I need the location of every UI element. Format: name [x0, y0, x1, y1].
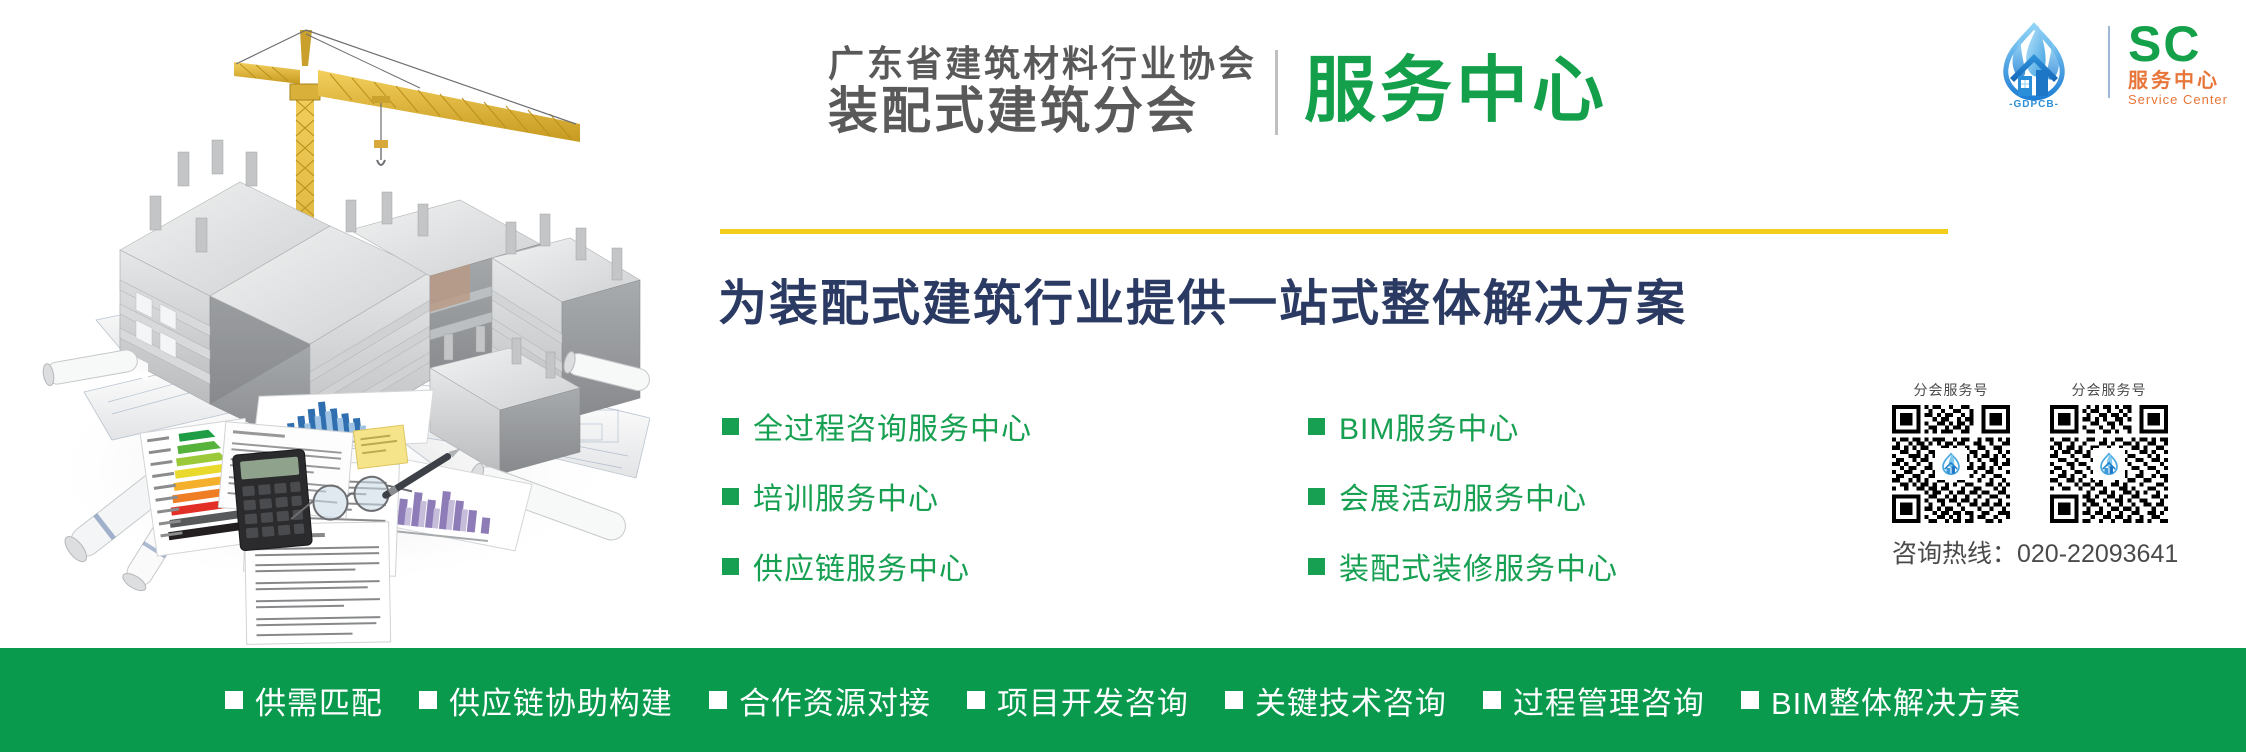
- footer-item-label: 过程管理咨询: [1513, 678, 1705, 723]
- logo-name-en: Service Center: [2128, 93, 2228, 106]
- square-bullet-icon: [722, 418, 739, 435]
- service-item-label: 全过程咨询服务中心: [753, 404, 1032, 448]
- service-item[interactable]: 装配式装修服务中心: [1308, 544, 1618, 588]
- footer-item[interactable]: BIM整体解决方案: [1741, 678, 2021, 723]
- flame-house-icon: -GDPCB-: [1978, 14, 2090, 110]
- service-item-label: 装配式装修服务中心: [1339, 544, 1618, 588]
- service-item[interactable]: 全过程咨询服务中心: [722, 404, 1222, 448]
- square-bullet-icon: [722, 558, 739, 575]
- logo-name-cn: 服务中心: [2128, 71, 2220, 91]
- footer-item[interactable]: 项目开发咨询: [967, 678, 1189, 723]
- logo-divider: [2108, 26, 2110, 98]
- footer-item-label: BIM整体解决方案: [1771, 678, 2021, 723]
- qr-code-image[interactable]: [2050, 405, 2168, 523]
- service-column-left: 全过程咨询服务中心 培训服务中心 供应链服务中心: [722, 404, 1222, 588]
- main-tagline: 为装配式建筑行业提供一站式整体解决方案: [718, 264, 1687, 335]
- service-item[interactable]: 培训服务中心: [722, 474, 1222, 518]
- qr-contact-block: 分会服务号: [1892, 380, 2210, 570]
- footer-item[interactable]: 供应链协助构建: [419, 678, 673, 723]
- brand-logo[interactable]: -GDPCB- SC 服务中心 Service Center: [1978, 14, 2228, 110]
- square-bullet-icon: [1308, 488, 1325, 505]
- banner-root: 广东省建筑材料行业协会 装配式建筑分会 服务中心 为装配式建筑行业提供一站式整体…: [0, 0, 2246, 752]
- logo-mark-caption: -GDPCB-: [2009, 99, 2059, 110]
- square-bullet-icon: [1308, 558, 1325, 575]
- square-bullet-icon: [419, 691, 437, 709]
- service-item-label: 供应链服务中心: [753, 544, 970, 588]
- footer-item-label: 关键技术咨询: [1255, 678, 1447, 723]
- square-bullet-icon: [722, 488, 739, 505]
- yellow-divider-rule: [720, 229, 1948, 234]
- square-bullet-icon: [709, 691, 727, 709]
- service-column-right: BIM服务中心 会展活动服务中心 装配式装修服务中心: [1308, 404, 1618, 588]
- square-bullet-icon: [225, 691, 243, 709]
- service-item-label: BIM服务中心: [1339, 404, 1519, 448]
- association-name-line1: 广东省建筑材料行业协会: [828, 44, 1257, 84]
- footer-item-label: 供需匹配: [255, 678, 383, 723]
- qr-label: 分会服务号: [2050, 380, 2168, 400]
- qr-center-flame-house-icon: [2093, 448, 2125, 480]
- logo-abbr: SC: [2128, 19, 2201, 69]
- service-center-heading: 服务中心: [1278, 44, 1608, 139]
- footer-item[interactable]: 关键技术咨询: [1225, 678, 1447, 723]
- service-item[interactable]: 会展活动服务中心: [1308, 474, 1618, 518]
- hotline-text: 咨询热线：020-22093641: [1892, 534, 2210, 570]
- square-bullet-icon: [1308, 418, 1325, 435]
- footer-item[interactable]: 供需匹配: [225, 678, 383, 723]
- qr-code-row: 分会服务号: [1892, 380, 2210, 523]
- footer-capability-bar: 供需匹配 供应链协助构建 合作资源对接 项目开发咨询 关键技术咨询 过程管理咨询…: [0, 648, 2246, 752]
- footer-item-label: 项目开发咨询: [997, 678, 1189, 723]
- service-item-label: 培训服务中心: [753, 474, 939, 518]
- footer-item[interactable]: 合作资源对接: [709, 678, 931, 723]
- service-item-label: 会展活动服务中心: [1339, 474, 1587, 518]
- header-title-block: 广东省建筑材料行业协会 装配式建筑分会 服务中心: [828, 44, 1608, 139]
- qr-code-cell[interactable]: 分会服务号: [2050, 380, 2168, 523]
- qr-label: 分会服务号: [1892, 380, 2010, 400]
- footer-item[interactable]: 过程管理咨询: [1483, 678, 1705, 723]
- square-bullet-icon: [1741, 691, 1759, 709]
- qr-center-flame-house-icon: [1935, 448, 1967, 480]
- service-centers-list: 全过程咨询服务中心 培训服务中心 供应链服务中心 BIM服务中心 会展活动服务中…: [722, 404, 1618, 588]
- construction-collage-photo: [0, 0, 650, 648]
- square-bullet-icon: [967, 691, 985, 709]
- qr-code-cell[interactable]: 分会服务号: [1892, 380, 2010, 523]
- service-item[interactable]: BIM服务中心: [1308, 404, 1618, 448]
- association-name-line2: 装配式建筑分会: [828, 84, 1257, 139]
- association-names: 广东省建筑材料行业协会 装配式建筑分会: [828, 44, 1275, 139]
- footer-item-label: 供应链协助构建: [449, 678, 673, 723]
- service-item[interactable]: 供应链服务中心: [722, 544, 1222, 588]
- logo-wordmark: SC 服务中心 Service Center: [2128, 19, 2228, 106]
- qr-code-image[interactable]: [1892, 405, 2010, 523]
- square-bullet-icon: [1225, 691, 1243, 709]
- footer-item-label: 合作资源对接: [739, 678, 931, 723]
- square-bullet-icon: [1483, 691, 1501, 709]
